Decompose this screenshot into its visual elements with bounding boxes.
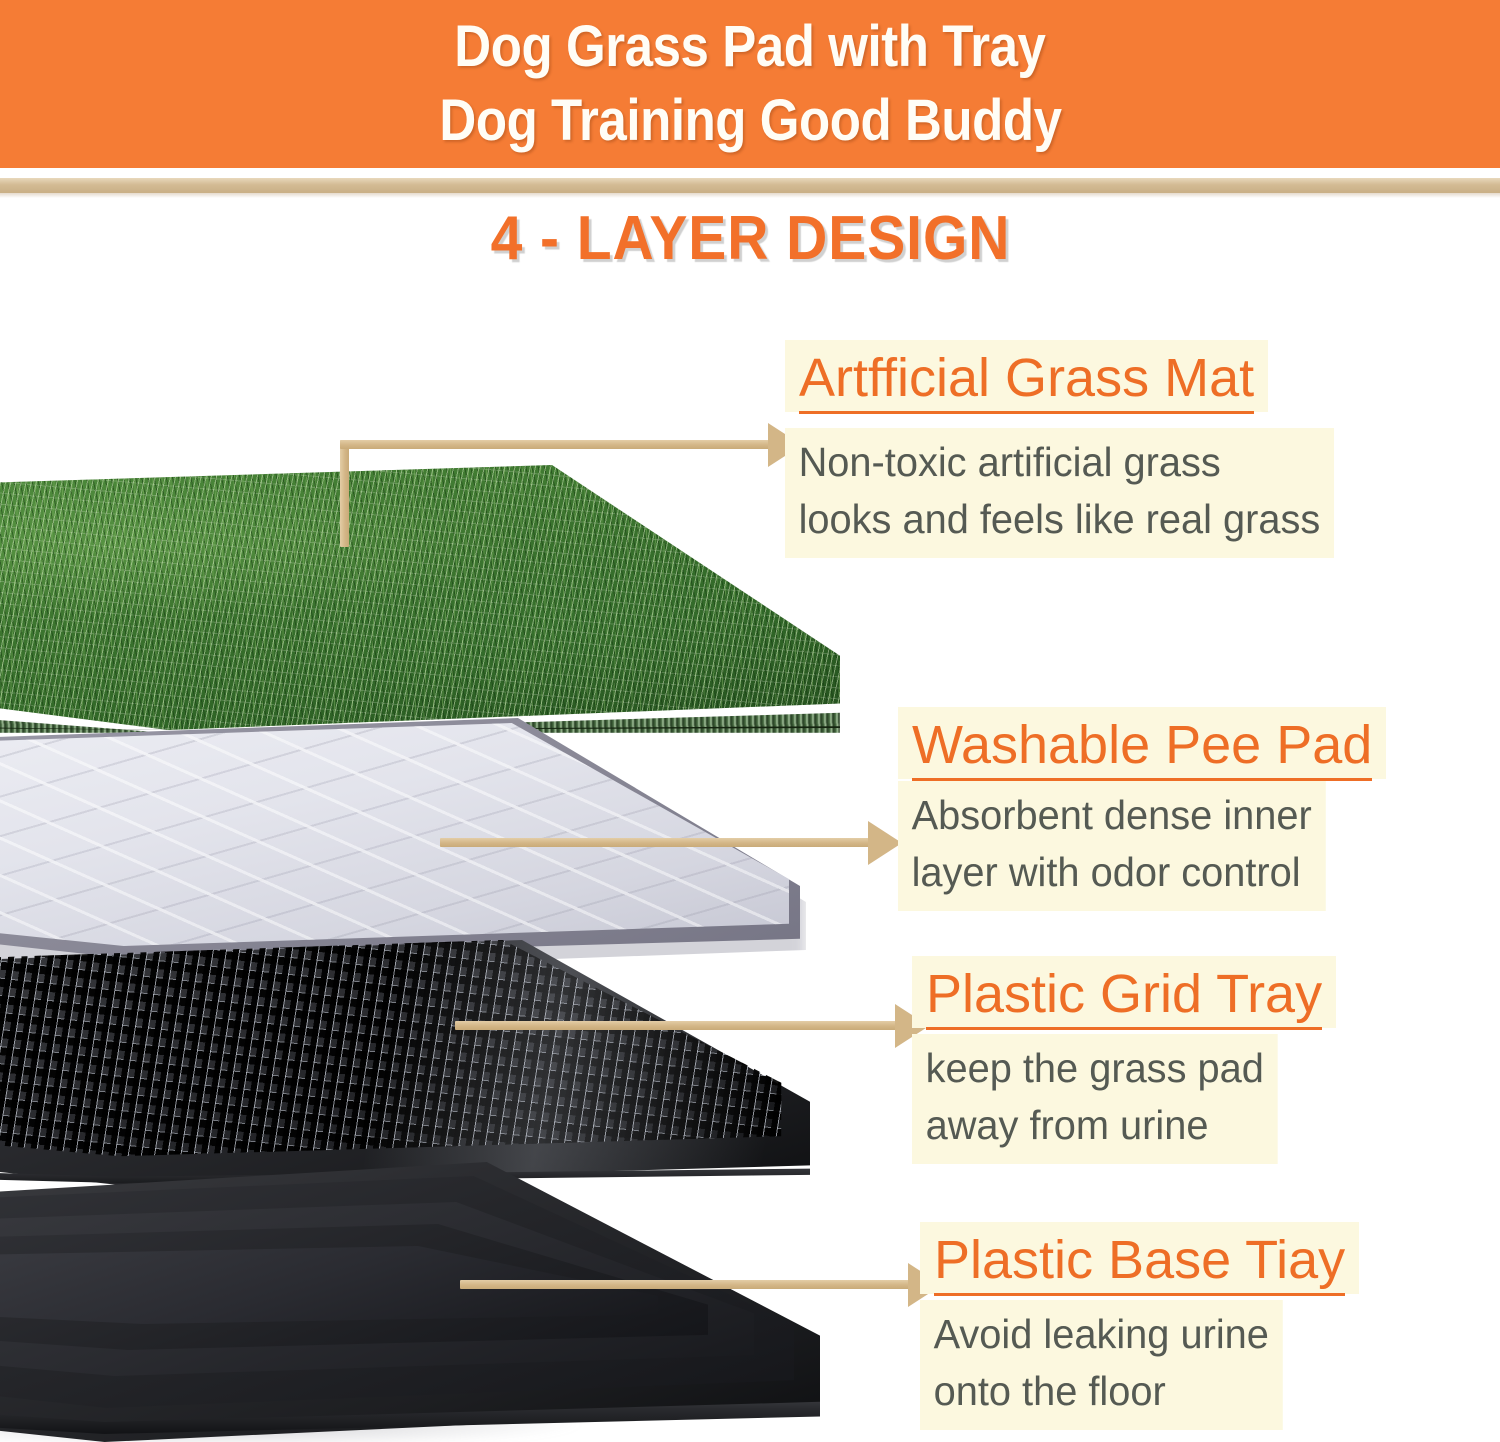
banner-gap: [0, 168, 1500, 178]
grid-tray-sheen: [0, 940, 810, 1185]
plastic-grid-tray-layer: [0, 940, 810, 1185]
arrow-riser: [340, 440, 349, 547]
banner-title-line-2: Dog Training Good Buddy: [439, 84, 1061, 158]
tan-divider-bar: [0, 178, 1500, 193]
callout-title-grid-tray-text: Plastic Grid Tray: [926, 964, 1322, 1030]
callout-title-pee-pad: Washable Pee Pad: [898, 707, 1386, 779]
arrow-shaft: [340, 440, 772, 449]
callout-label-base-tray: Plastic Base Tiay Avoid leaking urine on…: [920, 1222, 1500, 1430]
callout-title-pee-pad-text: Washable Pee Pad: [912, 715, 1372, 781]
callout-body-base-tray: Avoid leaking urine onto the floor: [920, 1300, 1282, 1430]
infographic-page: Dog Grass Pad with Tray Dog Training Goo…: [0, 0, 1500, 1442]
callout-title-grass-mat-text: Artfficial Grass Mat: [799, 348, 1254, 414]
arrow-shaft: [455, 1021, 899, 1030]
arrow-head: [868, 821, 902, 865]
callout-label-grid-tray: Plastic Grid Tray keep the grass pad awa…: [912, 956, 1500, 1164]
callout-body-grass-mat: Non-toxic artificial grass looks and fee…: [785, 428, 1334, 558]
callout-arrow-pee-pad: [440, 820, 908, 864]
callout-body-pee-pad: Absorbent dense inner layer with odor co…: [898, 781, 1325, 911]
callout-title-grass-mat: Artfficial Grass Mat: [785, 340, 1268, 412]
section-title-text: 4 - LAYER DESIGN: [490, 203, 1010, 274]
callout-arrow-grass-mat: [340, 432, 810, 547]
callout-label-pee-pad: Washable Pee Pad Absorbent dense inner l…: [898, 707, 1500, 911]
section-title: 4 - LAYER DESIGN: [0, 200, 1500, 276]
header-banner: Dog Grass Pad with Tray Dog Training Goo…: [0, 0, 1500, 168]
arrow-shaft: [460, 1280, 912, 1289]
callout-label-grass-mat: Artfficial Grass Mat Non-toxic artificia…: [785, 340, 1500, 558]
callout-title-base-tray-text: Plastic Base Tiay: [934, 1230, 1345, 1296]
arrow-shaft: [440, 838, 872, 847]
callout-body-grid-tray: keep the grass pad away from urine: [912, 1034, 1277, 1164]
callout-arrow-base-tray: [460, 1262, 928, 1306]
tan-divider-shadow: [0, 193, 1500, 198]
callout-title-grid-tray: Plastic Grid Tray: [912, 956, 1336, 1028]
callout-title-base-tray: Plastic Base Tiay: [920, 1222, 1359, 1294]
callout-arrow-grid-tray: [455, 1003, 923, 1047]
banner-title-line-1: Dog Grass Pad with Tray: [454, 10, 1045, 84]
